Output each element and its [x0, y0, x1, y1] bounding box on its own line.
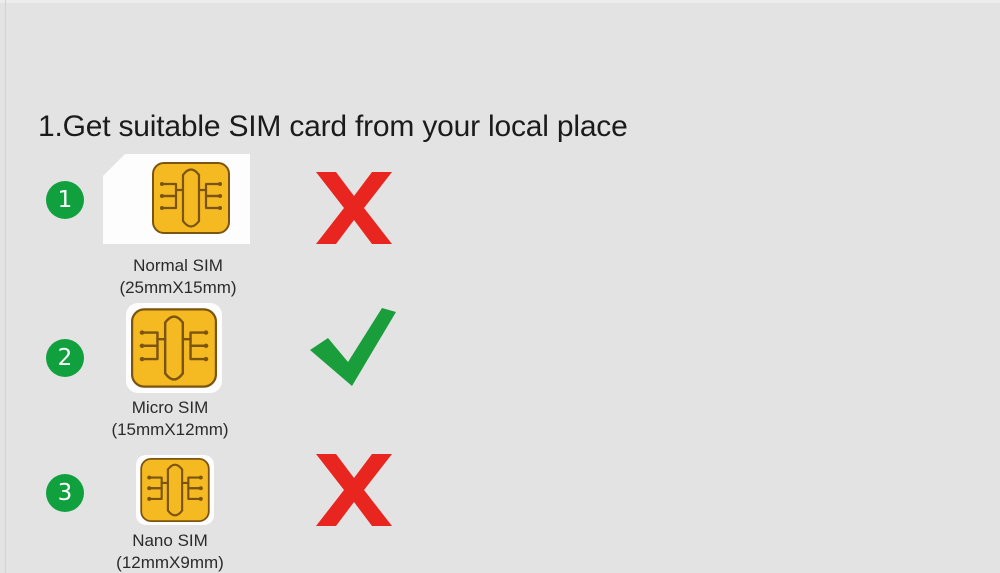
sim-card-guide-page: 1.Get suitable SIM card from your local … [0, 0, 1000, 573]
sim-size-label: (25mmX15mm) [88, 277, 268, 299]
cross-mark-icon [310, 168, 398, 248]
left-edge-line [5, 0, 6, 573]
step-badge-3: 3 [46, 474, 84, 512]
sim-size-label: (12mmX9mm) [80, 552, 260, 573]
step-badge-1: 1 [46, 181, 84, 219]
sim-size-label: (15mmX12mm) [80, 419, 260, 441]
cross-mark-icon [310, 450, 398, 530]
sim-name-label: Micro SIM [80, 397, 260, 419]
caption-normal-sim: Normal SIM (25mmX15mm) [88, 255, 268, 299]
sim-name-label: Normal SIM [88, 255, 268, 277]
sim-chip-contacts-icon [140, 458, 210, 522]
sim-chip-contacts-icon [152, 162, 230, 234]
sim-name-label: Nano SIM [80, 530, 260, 552]
step-badge-2: 2 [46, 339, 84, 377]
caption-micro-sim: Micro SIM (15mmX12mm) [80, 397, 260, 441]
top-edge-highlight [0, 0, 1000, 3]
check-mark-icon [306, 306, 398, 390]
caption-nano-sim: Nano SIM (12mmX9mm) [80, 530, 260, 573]
page-title: 1.Get suitable SIM card from your local … [38, 110, 628, 144]
sim-chip-contacts-icon [131, 307, 217, 389]
